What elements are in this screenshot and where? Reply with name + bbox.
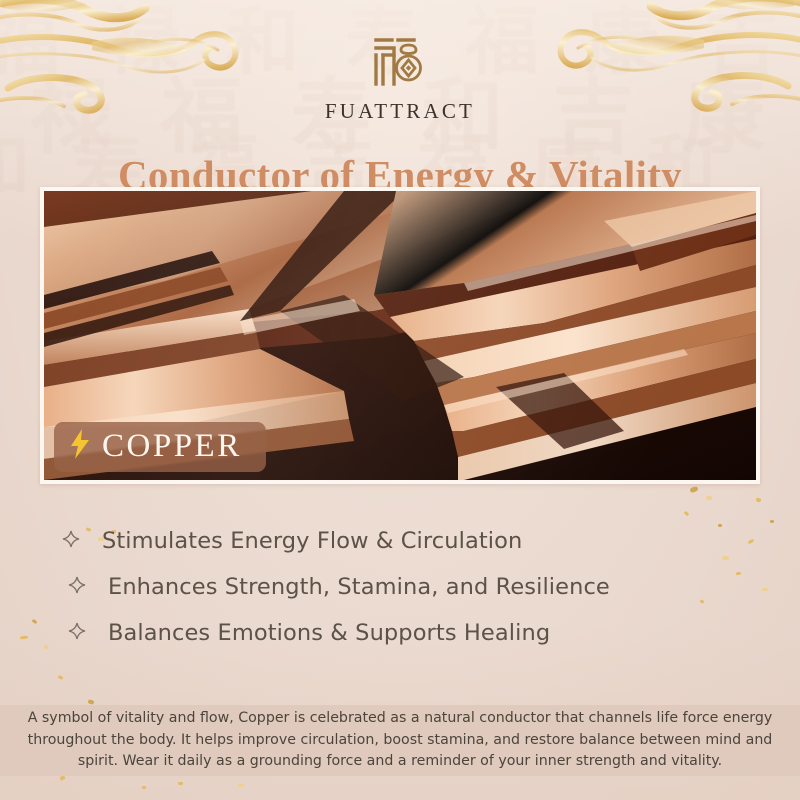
copper-product-poster: 福 禄 和 寿 福 康 吉 禄 福 寿 和 吉 康 福 和 寿 福 吉 禄 康 … [0,0,800,800]
brand-name: FUATTRACT [325,99,475,124]
footer-band: A symbol of vitality and flow, Copper is… [0,705,800,776]
diamond-sparkle-icon [68,622,86,645]
fuattract-seal-logo-icon [370,36,430,93]
list-item-label: Stimulates Energy Flow & Circulation [102,528,522,554]
status-badge: COPPER [54,422,266,472]
diamond-sparkle-icon [68,576,86,599]
list-item-label: Balances Emotions & Supports Healing [108,620,550,646]
lightning-bolt-icon [70,429,90,464]
benefit-list: Stimulates Energy Flow & Circulation Enh… [62,518,740,656]
diamond-sparkle-icon [62,530,80,553]
list-item-label: Enhances Strength, Stamina, and Resilien… [108,574,610,600]
list-item: Enhances Strength, Stamina, and Resilien… [62,564,740,610]
stacked-copper-bars-photo: COPPER [44,191,756,480]
list-item: Stimulates Energy Flow & Circulation [62,518,740,564]
footer-description: A symbol of vitality and flow, Copper is… [27,708,773,773]
list-item: Balances Emotions & Supports Healing [62,610,740,656]
hero-image-frame: COPPER [40,187,760,484]
brand-logo-block: FUATTRACT [0,36,800,124]
badge-label: COPPER [102,430,242,463]
